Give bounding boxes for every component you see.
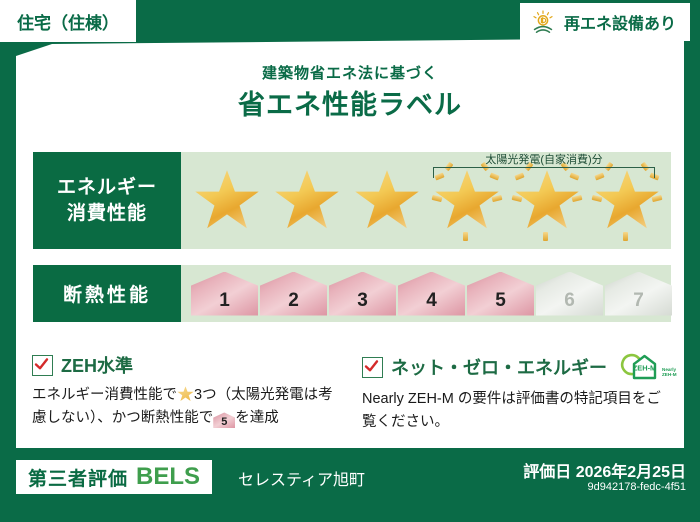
criterion-nze-body: Nearly ZEH-M の要件は評価書の特記項目をご覧ください。 [362, 388, 674, 435]
star-2 [267, 152, 347, 249]
check-icon [364, 359, 379, 374]
star-3 [347, 152, 427, 249]
label-subtitle: 建築物省エネ法に基づく [0, 62, 700, 83]
star-rating [187, 152, 671, 249]
renewable-equipment-label: 再エネ設備あり [564, 10, 676, 34]
check-icon [34, 357, 49, 372]
bels-certification-chip: 第三者評価 BELS [16, 460, 212, 494]
criterion-zeh-standard: ZEH水準 エネルギー消費性能で3つ（太陽光発電は考慮しない）、かつ断熱性能で5… [32, 352, 344, 431]
zeh-m-logo-text: ZEH-M [633, 364, 656, 373]
criterion-nze-title: ネット・ゼロ・エネルギー [391, 354, 607, 380]
grade-value: 5 [495, 290, 506, 312]
sparkle-ray [432, 195, 443, 202]
star-6 [587, 152, 667, 249]
star-icon [194, 169, 260, 232]
sparkle-ray [572, 195, 583, 202]
sparkle-ray [569, 172, 579, 180]
label-title: 省エネ性能ラベル [0, 83, 700, 122]
zeh-m-logo-sub2: ZEH-M [662, 372, 677, 377]
evaluation-id: 9d942178-fedc-4f51 [588, 481, 686, 493]
energy-stars-area: 太陽光発電(自家消費)分 [181, 152, 671, 249]
star-icon [274, 169, 340, 232]
sparkle-ray [512, 195, 523, 202]
evaluation-date: 評価日 2026年2月25日 [523, 458, 686, 482]
sparkle-ray [489, 172, 499, 180]
energy-label-line1: エネルギー [57, 175, 157, 200]
energy-label-line2: 消費性能 [67, 201, 147, 226]
criterion-zeh-header: ZEH水準 [32, 352, 344, 378]
sparkle-ray [514, 172, 524, 180]
sparkle-ray [605, 162, 614, 171]
checkbox-checked-icon [362, 357, 383, 378]
insulation-label: 断熱性能 [63, 280, 151, 307]
insulation-grades-area: 1 2 3 4 5 6 7 [181, 265, 671, 322]
sparkle-ray [525, 162, 534, 171]
sparkle-ray [434, 172, 444, 180]
bels-jp-label: 第三者評価 [28, 464, 128, 491]
zeh-text-part1: エネルギー消費性能で [32, 387, 177, 403]
grade-value: 3 [357, 290, 368, 312]
grade-badge-1: 1 [191, 272, 258, 316]
sparkle-ray [445, 162, 454, 171]
sparkle-ray [592, 195, 603, 202]
criterion-zeh-title: ZEH水準 [61, 352, 133, 378]
insulation-performance-label-box: 断熱性能 [33, 265, 181, 322]
grade-value: 6 [564, 290, 575, 312]
grade-badge-7: 7 [605, 272, 672, 316]
sparkle-ray [649, 172, 659, 180]
star-icon [594, 169, 660, 232]
grade-badge-inline: 5 [213, 412, 235, 428]
criterion-zeh-body: エネルギー消費性能で3つ（太陽光発電は考慮しない）、かつ断熱性能で5を達成 [32, 384, 344, 431]
bels-logo-text: BELS [136, 463, 200, 491]
footer: 第三者評価 BELS セレスティア旭町 評価日 2026年2月25日 9d942… [0, 448, 700, 522]
sparkle-ray [641, 162, 650, 171]
grade-value: 7 [633, 290, 644, 312]
energy-performance-row: エネルギー 消費性能 [33, 152, 671, 249]
building-type-chip: 住宅（住棟） [0, 0, 136, 42]
sparkle-ray [594, 172, 604, 180]
criterion-net-zero-energy: ネット・ゼロ・エネルギー ZEH-M Nearly ZEH-M Nearly Z… [362, 352, 674, 435]
star-1 [187, 152, 267, 249]
sparkle-ray [561, 162, 570, 171]
sparkle-ray [481, 162, 490, 171]
grade-badge-6: 6 [536, 272, 603, 316]
building-type-label: 住宅（住棟） [17, 9, 119, 34]
star-5 [507, 152, 587, 249]
zeh-text-part3: を達成 [235, 410, 279, 426]
star-icon [514, 169, 580, 232]
sparkle-ray [492, 195, 503, 202]
insulation-grade-scale: 1 2 3 4 5 6 7 [187, 265, 671, 322]
sparkle-ray [543, 232, 548, 241]
energy-performance-label-box: エネルギー 消費性能 [33, 152, 181, 249]
grade-badge-4: 4 [398, 272, 465, 316]
grade-badge-5: 5 [467, 272, 534, 316]
grade-value: 2 [288, 290, 299, 312]
sparkle-ray [463, 232, 468, 241]
zeh-m-nearly-logo: ZEH-M Nearly ZEH-M [617, 352, 679, 382]
renewable-equipment-badge: 再エネ設備あり [520, 3, 690, 41]
criterion-nze-header: ネット・ゼロ・エネルギー ZEH-M Nearly ZEH-M [362, 352, 674, 382]
checkbox-checked-icon [32, 355, 53, 376]
insulation-performance-row: 断熱性能 1 2 3 4 5 6 7 [33, 265, 671, 322]
star-4 [427, 152, 507, 249]
star-icon [434, 169, 500, 232]
star-icon [354, 169, 420, 232]
grade-value: 1 [219, 290, 230, 312]
solar-sun-icon [530, 9, 556, 35]
sparkle-ray [652, 195, 663, 202]
grade-badge-2: 2 [260, 272, 327, 316]
grade-value: 4 [426, 290, 437, 312]
star-icon [177, 386, 194, 402]
property-name: セレスティア旭町 [238, 466, 365, 490]
sparkle-ray [623, 232, 628, 241]
grade-badge-3: 3 [329, 272, 396, 316]
energy-performance-label: 住宅（住棟） 再エネ設備あり 建築物省エネ法に基づく 省エネ性能ラベル エネルギ… [0, 0, 700, 522]
